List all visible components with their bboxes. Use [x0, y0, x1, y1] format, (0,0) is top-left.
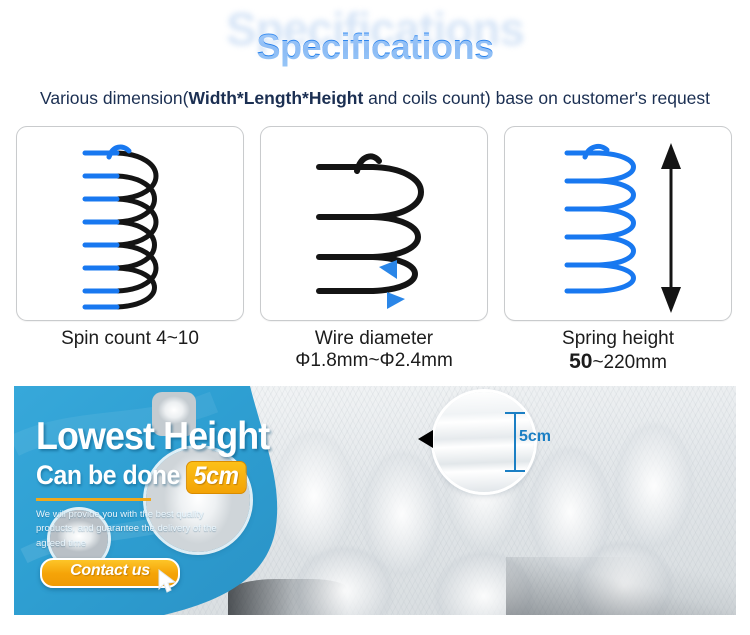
- subtitle-part-1: Various dimension(: [40, 88, 189, 108]
- callout-dimension-tick-bottom: [505, 470, 525, 472]
- spec-caption-rest: ~220mm: [592, 352, 666, 373]
- banner-subhead-text: Can be done: [36, 460, 180, 490]
- spec-caption: Spring height 50~220mm: [504, 328, 732, 375]
- spec-card-wire-diameter: Wire diameter Φ1.8mm~Φ2.4mm: [260, 126, 490, 373]
- callout-pointer-icon: [418, 430, 433, 448]
- height-dimension-arrow: [661, 143, 681, 313]
- coil-spring-blue-black-icon: [17, 127, 244, 321]
- spec-illustration-frame: [504, 126, 732, 321]
- spec-caption-line-2: Φ1.8mm~Φ2.4mm: [260, 350, 488, 372]
- spec-card-spring-height: Spring height 50~220mm: [504, 126, 734, 375]
- callout-dimension-tick-top: [505, 412, 525, 414]
- banner-paragraph: We will provide you with the best qualit…: [36, 508, 236, 551]
- spec-caption-line-2: 50~220mm: [504, 350, 732, 375]
- spec-caption: Wire diameter Φ1.8mm~Φ2.4mm: [260, 328, 488, 373]
- banner-headline: Lowest Height: [36, 415, 269, 459]
- banner-badge: 5cm: [186, 461, 247, 494]
- promo-banner: 5cm Lowest Height Can be done5cm We will…: [14, 386, 736, 615]
- contact-us-button[interactable]: Contact us: [40, 558, 180, 588]
- spec-illustration-frame: [260, 126, 488, 321]
- callout-dimension-label: 5cm: [519, 428, 551, 446]
- spec-caption-line-1: Spin count 4~10: [16, 328, 244, 350]
- coil-spring-blue-with-height-arrow-icon: [505, 127, 732, 321]
- page-subtitle: Various dimension(Width*Length*Height an…: [0, 88, 750, 109]
- spec-caption: Spin count 4~10: [16, 328, 244, 350]
- cursor-arrow-icon: [154, 568, 180, 594]
- banner-divider: [36, 498, 151, 501]
- page-header: Specifications Specifications Various di…: [0, 0, 750, 120]
- page-title: Specifications: [0, 26, 750, 68]
- photo-shadow-right: [506, 557, 736, 615]
- banner-subhead: Can be done5cm: [36, 460, 247, 494]
- subtitle-emphasis: Width*Length*Height: [188, 88, 363, 108]
- spec-card-spin-count: Spin count 4~10: [16, 126, 246, 350]
- subtitle-part-2: and coils count) base on customer's requ…: [363, 88, 710, 108]
- coil-spring-black-with-arrows-icon: [261, 127, 488, 321]
- spec-caption-highlight: 50: [569, 350, 592, 373]
- spec-caption-line-1: Wire diameter: [260, 328, 488, 350]
- spec-illustration-frame: [16, 126, 244, 321]
- spec-caption-line-1: Spring height: [504, 328, 732, 350]
- callout-dimension-line: [514, 412, 516, 472]
- specification-cards: Spin count 4~10: [0, 126, 750, 374]
